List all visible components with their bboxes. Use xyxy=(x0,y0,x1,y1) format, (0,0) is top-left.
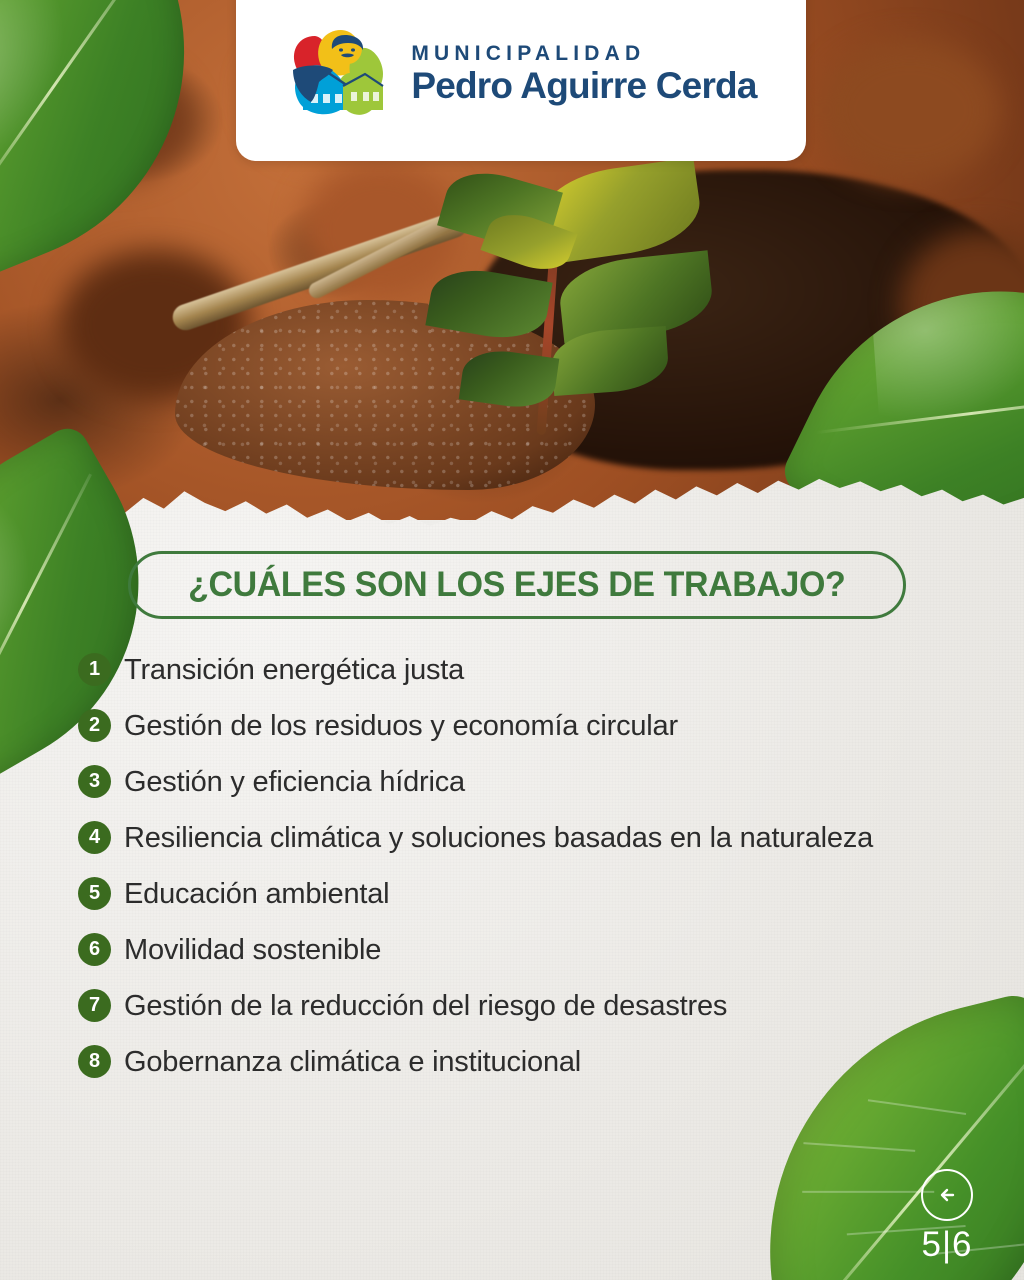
brand-name: Pedro Aguirre Cerda xyxy=(411,67,756,106)
list-item: 6 Movilidad sostenible xyxy=(78,930,958,970)
municipality-crest-icon xyxy=(285,26,389,122)
page-navigation[interactable]: 5|6 xyxy=(892,1169,1002,1262)
list-item-label: Gestión de la reducción del riesgo de de… xyxy=(124,986,727,1026)
section-title-pill: ¿CUÁLES SON LOS EJES DE TRABAJO? xyxy=(128,551,906,619)
list-item-number: 7 xyxy=(78,989,111,1022)
list-item: 4 Resiliencia climática y soluciones bas… xyxy=(78,818,958,858)
page-title: ¿CUÁLES SON LOS EJES DE TRABAJO? xyxy=(188,565,845,605)
list-item: 2 Gestión de los residuos y economía cir… xyxy=(78,706,958,746)
soil-texture-blob xyxy=(820,40,1000,180)
brand-wordmark: MUNICIPALIDAD Pedro Aguirre Cerda xyxy=(411,42,756,106)
list-item-number: 1 xyxy=(78,653,111,686)
list-item-number: 5 xyxy=(78,877,111,910)
list-item: 7 Gestión de la reducción del riesgo de … xyxy=(78,986,958,1026)
brand-kicker: MUNICIPALIDAD xyxy=(411,42,756,65)
list-item: 5 Educación ambiental xyxy=(78,874,958,914)
list-item-number: 2 xyxy=(78,709,111,742)
slide-canvas: MUNICIPALIDAD Pedro Aguirre Cerda ¿CUÁLE… xyxy=(0,0,1024,1280)
list-item-label: Gestión y eficiencia hídrica xyxy=(124,762,465,802)
list-item-label: Gestión de los residuos y economía circu… xyxy=(124,706,678,746)
brand-logo-card: MUNICIPALIDAD Pedro Aguirre Cerda xyxy=(236,0,806,161)
list-item-number: 6 xyxy=(78,933,111,966)
list-item-number: 3 xyxy=(78,765,111,798)
work-axes-list: 1 Transición energética justa 2 Gestión … xyxy=(78,650,958,1098)
list-item-label: Resiliencia climática y soluciones basad… xyxy=(124,818,873,858)
list-item: 1 Transición energética justa xyxy=(78,650,958,690)
leaf-icon xyxy=(0,0,249,283)
list-item: 3 Gestión y eficiencia hídrica xyxy=(78,762,958,802)
page-indicator: 5|6 xyxy=(892,1227,1002,1262)
list-item-label: Movilidad sostenible xyxy=(124,930,381,970)
list-item-number: 8 xyxy=(78,1045,111,1078)
list-item-number: 4 xyxy=(78,821,111,854)
list-item-label: Educación ambiental xyxy=(124,874,389,914)
list-item-label: Transición energética justa xyxy=(124,650,464,690)
list-item-label: Gobernanza climática e institucional xyxy=(124,1042,581,1082)
list-item: 8 Gobernanza climática e institucional xyxy=(78,1042,958,1082)
arrow-left-circle-icon[interactable] xyxy=(921,1169,973,1221)
